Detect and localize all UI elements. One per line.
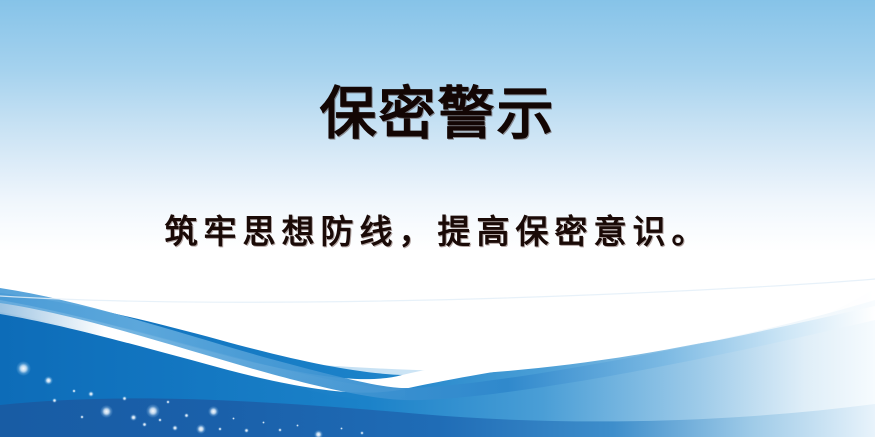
poster-slogan: 筑牢思想防线，提高保密意识。 (0, 208, 875, 256)
poster-canvas: 保密警示 筑牢思想防线，提高保密意识。 (0, 0, 875, 437)
poster-text-layer: 保密警示 筑牢思想防线，提高保密意识。 (0, 0, 875, 437)
page-title: 保密警示 (0, 79, 875, 149)
